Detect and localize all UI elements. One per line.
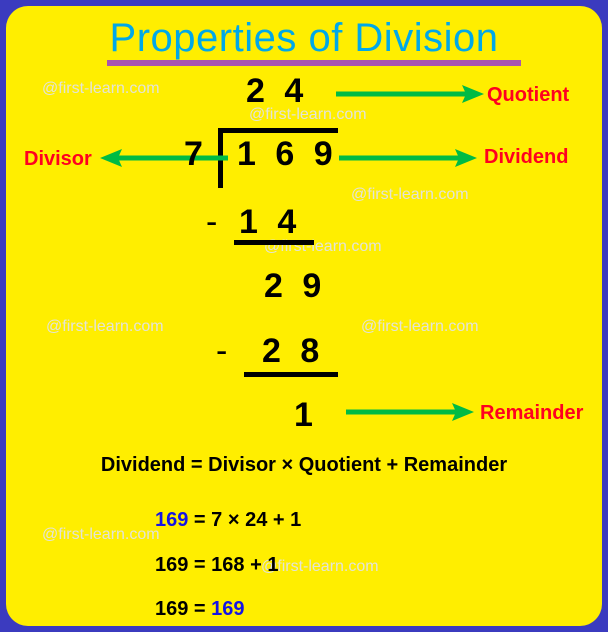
page-title: Properties of Division <box>6 16 602 61</box>
remainder-label: Remainder <box>480 402 583 425</box>
step1-rule <box>234 240 314 245</box>
title-underline <box>107 60 521 66</box>
step2-value: 2 8 <box>262 332 324 371</box>
equation-lhs: 169 <box>155 554 188 576</box>
poster-canvas: @first-learn.com @first-learn.com @first… <box>6 6 602 626</box>
step1-minus-sign: - <box>206 203 222 242</box>
divisor-arrow <box>98 146 228 170</box>
step1-value: 1 4 <box>239 203 301 242</box>
equation-op: = <box>188 598 211 620</box>
quotient-value: 2 4 <box>246 72 308 111</box>
watermark: @first-learn.com <box>46 318 164 336</box>
dividend-value: 1 6 9 <box>237 135 338 174</box>
equation-op: = <box>188 509 211 531</box>
divisor-value: 7 <box>184 135 208 174</box>
dividend-label: Dividend <box>484 146 568 169</box>
equation-row: 169 = 7 × 24 + 1 <box>155 509 301 532</box>
dividend-arrow <box>339 146 479 170</box>
watermark: @first-learn.com <box>42 526 160 544</box>
remainder-value: 1 <box>294 396 318 435</box>
formula-text: Dividend = Divisor × Quotient + Remainde… <box>6 454 602 477</box>
divisor-label: Divisor <box>24 148 92 171</box>
equation-lhs: 169 <box>155 598 188 620</box>
equation-row: 169 = 169 <box>155 598 245 621</box>
watermark: @first-learn.com <box>261 558 379 576</box>
equation-row: 169 = 168 + 1 <box>155 554 278 577</box>
quotient-arrow <box>336 82 486 106</box>
watermark: @first-learn.com <box>361 318 479 336</box>
quotient-label: Quotient <box>487 84 569 107</box>
poster-frame: @first-learn.com @first-learn.com @first… <box>0 0 608 632</box>
watermark: @first-learn.com <box>351 186 469 204</box>
division-bracket-horizontal <box>218 128 338 133</box>
equation-rhs: 168 + 1 <box>211 554 278 576</box>
step2-minus-sign: - <box>216 332 232 371</box>
equation-op: = <box>188 554 211 576</box>
step2-rule <box>244 372 338 377</box>
remainder-arrow <box>346 400 476 424</box>
watermark: @first-learn.com <box>42 80 160 98</box>
equation-rhs: 7 × 24 + 1 <box>211 509 301 531</box>
step1-result: 2 9 <box>264 267 326 306</box>
equation-rhs: 169 <box>211 598 244 620</box>
equation-lhs: 169 <box>155 509 188 531</box>
